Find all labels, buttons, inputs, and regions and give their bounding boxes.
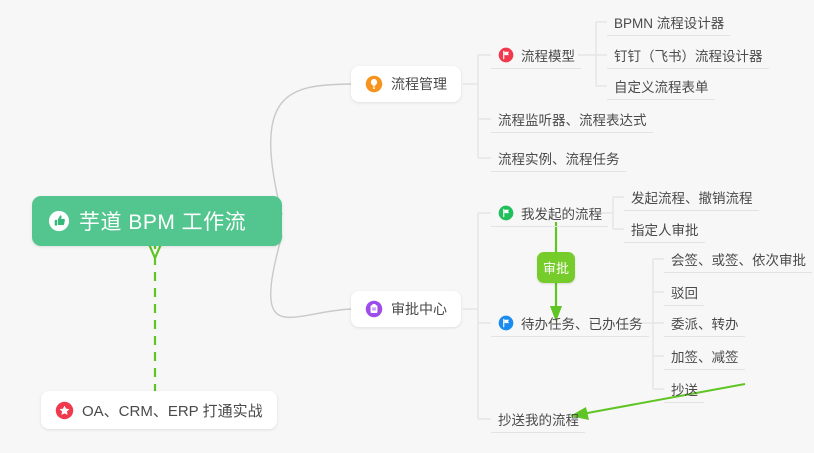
node-todo-done-tasks[interactable]: 待办任务、已办任务 [491, 310, 649, 337]
node-cc-to-me-processes[interactable]: 抄送我的流程 [491, 406, 585, 433]
node-label: BPMN 流程设计器 [614, 12, 724, 32]
node-label: 抄送 [671, 379, 698, 399]
star-icon [55, 401, 74, 420]
node-label: 自定义流程表单 [614, 76, 709, 96]
node-label: 钉钉（飞书）流程设计器 [614, 45, 763, 65]
node-label: 发起流程、撤销流程 [631, 187, 753, 207]
node-label: 流程模型 [521, 45, 575, 65]
node-custom-process-form[interactable]: 自定义流程表单 [607, 73, 715, 100]
approval-pill-label: 审批 [543, 258, 569, 277]
flag-icon [498, 47, 514, 63]
mindmap-canvas: 芋道 BPM 工作流 流程管理 流程模型 BPMN 流程设计器 钉钉（飞书）流程 [0, 0, 814, 453]
thumbs-up-icon [48, 210, 70, 232]
node-assignee-approval[interactable]: 指定人审批 [624, 216, 705, 243]
node-instance-task[interactable]: 流程实例、流程任务 [491, 145, 626, 172]
clipboard-icon [365, 300, 383, 318]
note-label: OA、CRM、ERP 打通实战 [82, 400, 263, 421]
node-dingtalk-feishu-designer[interactable]: 钉钉（飞书）流程设计器 [607, 42, 769, 69]
node-add-remove-sign[interactable]: 加签、减签 [664, 343, 745, 370]
approval-highlight-pill: 审批 [537, 252, 575, 283]
node-carbon-copy[interactable]: 抄送 [664, 376, 704, 403]
node-listener-expression[interactable]: 流程监听器、流程表达式 [491, 106, 653, 133]
note-integration-practice[interactable]: OA、CRM、ERP 打通实战 [41, 391, 277, 429]
node-label: 抄送我的流程 [498, 409, 579, 429]
branch-approval-center[interactable]: 审批中心 [351, 291, 461, 327]
node-reject[interactable]: 驳回 [664, 279, 704, 306]
root-node[interactable]: 芋道 BPM 工作流 [32, 196, 282, 246]
node-label: 指定人审批 [631, 219, 699, 239]
node-countersign-or-sequential[interactable]: 会签、或签、依次审批 [664, 246, 812, 273]
root-label: 芋道 BPM 工作流 [79, 206, 246, 236]
node-label: 驳回 [671, 282, 698, 302]
node-label: 流程监听器、流程表达式 [498, 109, 647, 129]
node-delegate-transfer[interactable]: 委派、转办 [664, 310, 745, 337]
lightbulb-icon [365, 75, 383, 93]
node-start-cancel-process[interactable]: 发起流程、撤销流程 [624, 184, 759, 211]
node-process-model[interactable]: 流程模型 [491, 42, 581, 69]
flag-icon [498, 315, 514, 331]
node-label: 委派、转办 [671, 313, 739, 333]
node-label: 流程实例、流程任务 [498, 148, 620, 168]
branch-process-management[interactable]: 流程管理 [351, 66, 461, 102]
node-label: 我发起的流程 [521, 203, 602, 223]
flag-icon [498, 205, 514, 221]
node-bpmn-designer[interactable]: BPMN 流程设计器 [607, 9, 730, 36]
node-label: 加签、减签 [671, 346, 739, 366]
node-label: 会签、或签、依次审批 [671, 249, 806, 269]
branch-label: 审批中心 [391, 299, 447, 319]
branch-label: 流程管理 [391, 74, 447, 94]
node-label: 待办任务、已办任务 [521, 313, 643, 333]
node-my-started-processes[interactable]: 我发起的流程 [491, 200, 608, 227]
